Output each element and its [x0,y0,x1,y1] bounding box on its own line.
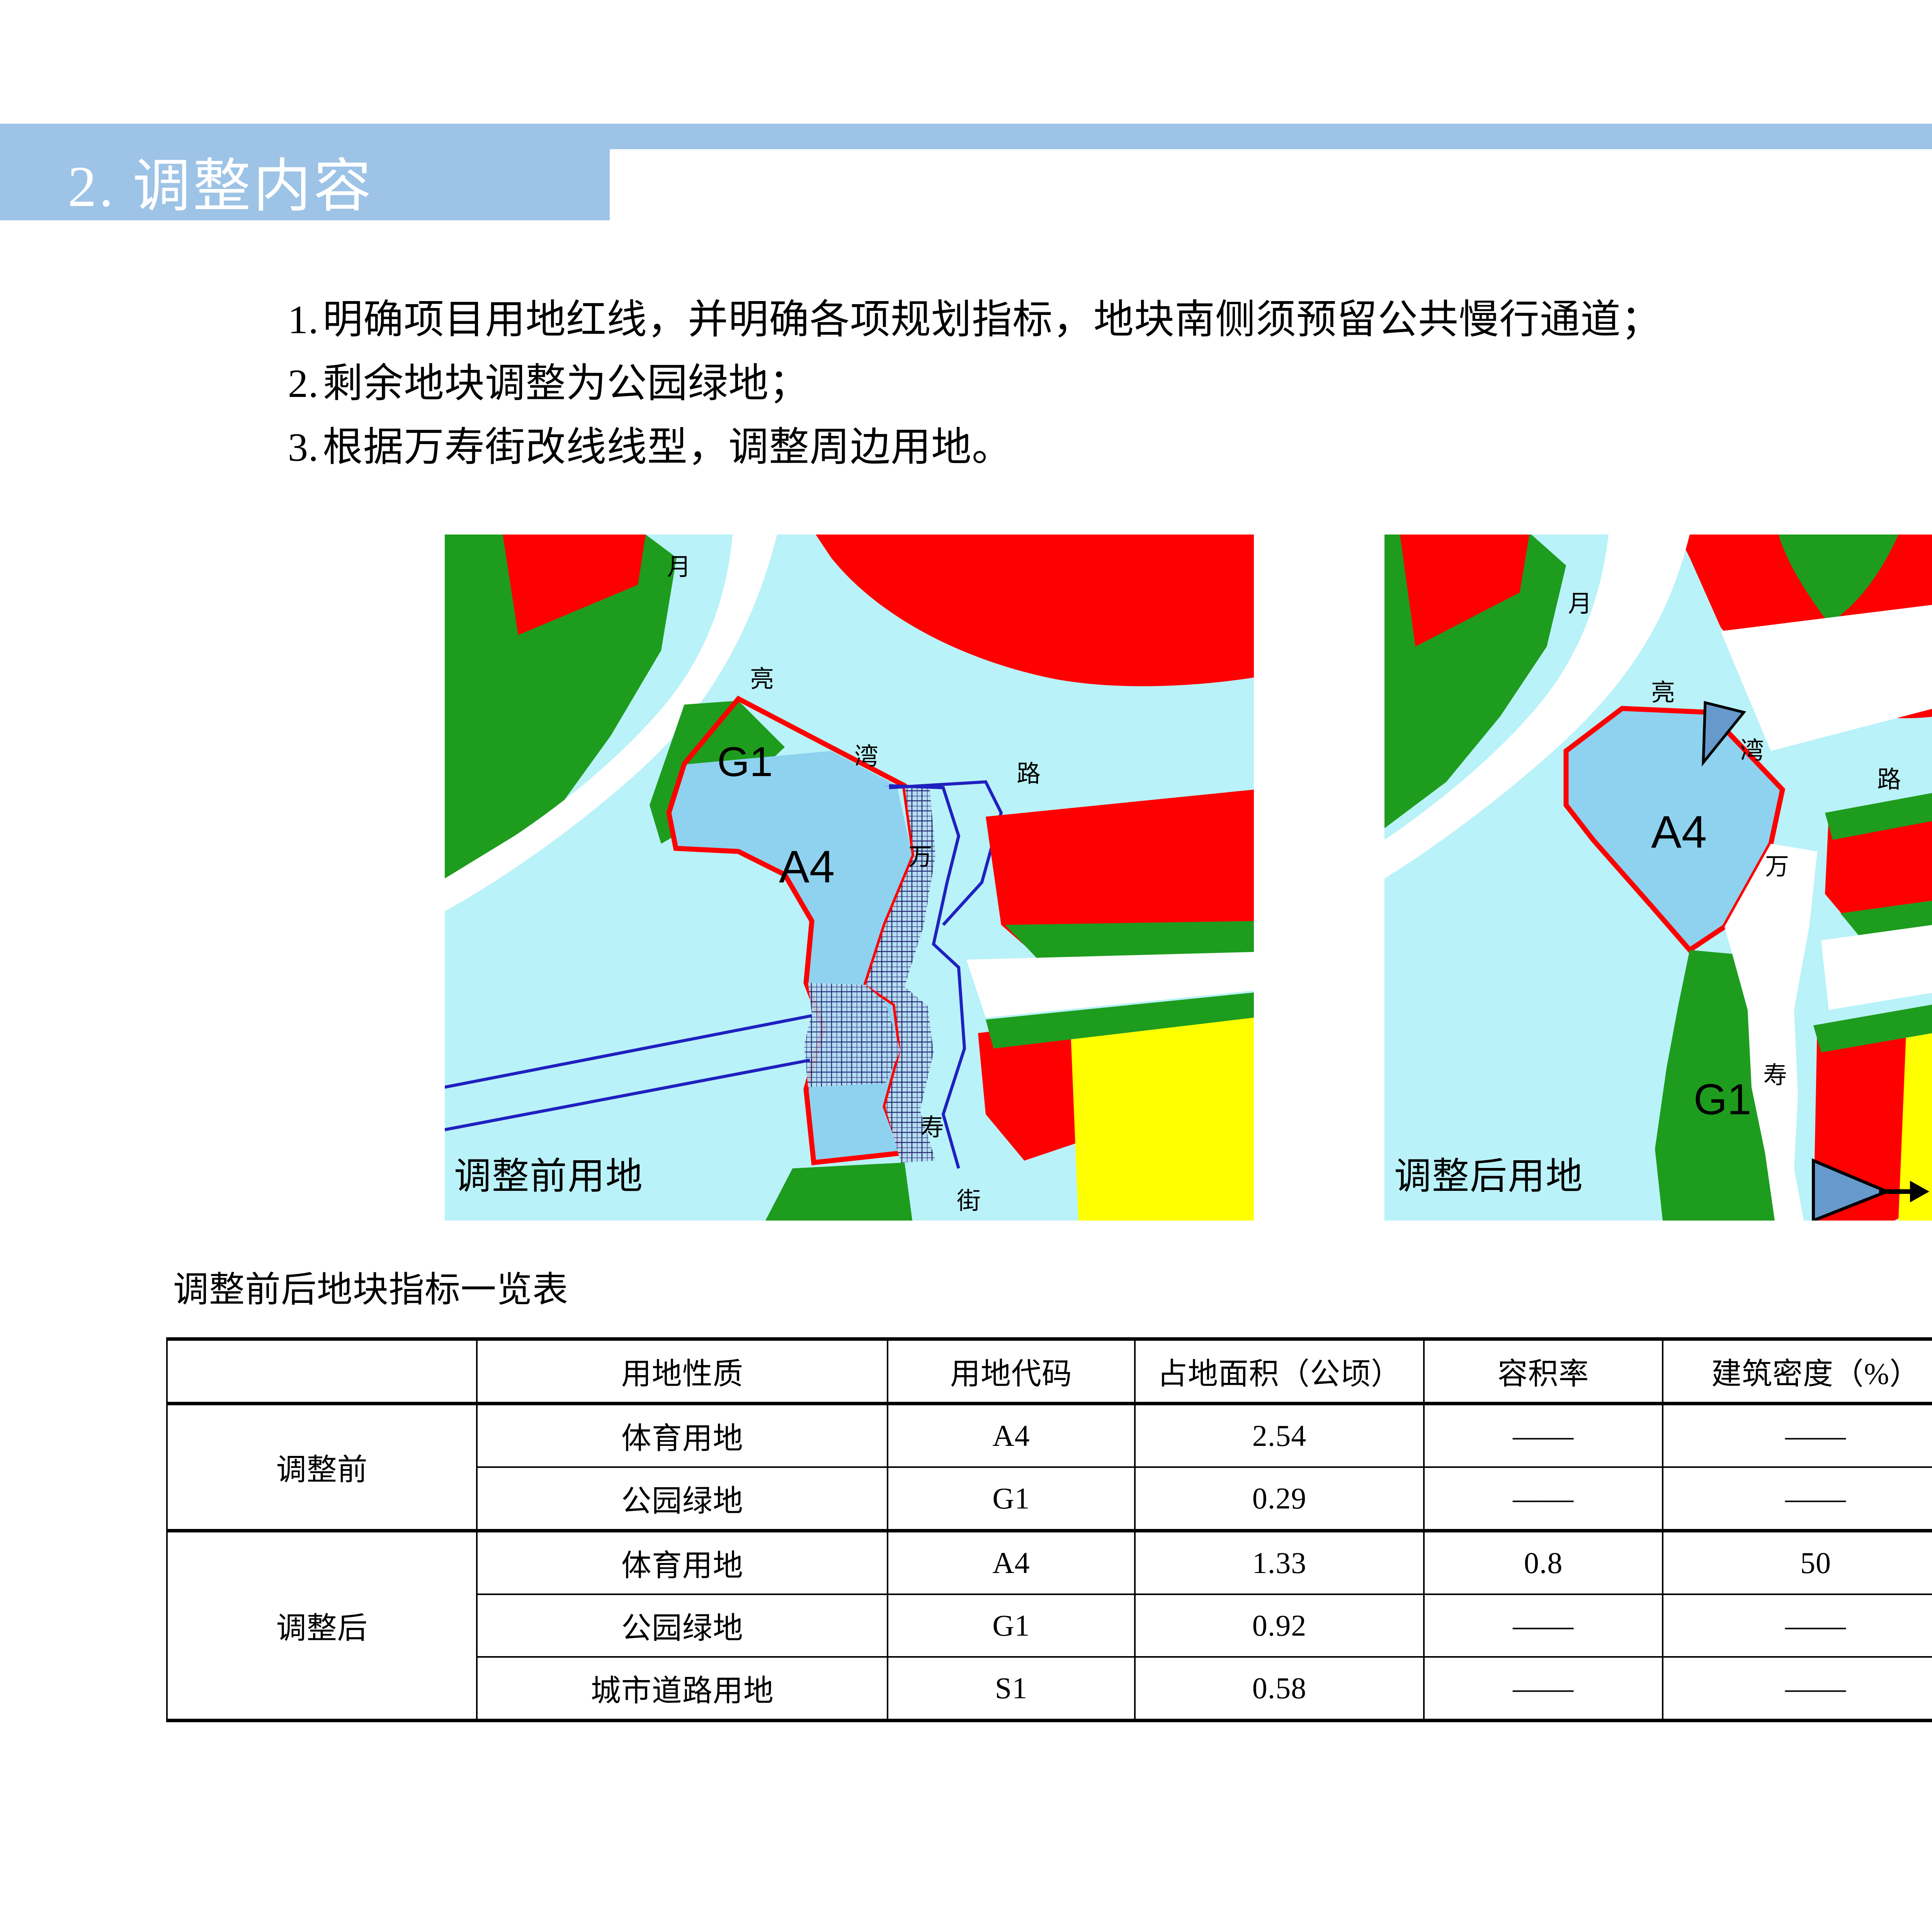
cell-density: —— [1663,1404,1932,1468]
street-char-liang: 亮 [1651,680,1675,706]
cell-density: 50 [1663,1531,1932,1595]
street-char-yue: 月 [667,554,691,581]
table-row: 调整后 体育用地 A4 1.33 0.8 50 16 20 [167,1531,1932,1595]
cell-nature: 公园绿地 [477,1594,888,1657]
street-char-yue: 月 [1568,591,1592,617]
cell-far: —— [1424,1404,1663,1468]
cell-code: A4 [888,1404,1135,1468]
parcel-label-g1: G1 [717,738,773,785]
cell-density: —— [1663,1594,1932,1657]
street-char-wan2: 万 [908,844,932,870]
table-group-label-before: 调整前 [167,1404,477,1531]
table-header-cell-0 [167,1339,477,1404]
cell-nature: 公园绿地 [477,1467,888,1531]
cell-code: G1 [888,1594,1135,1657]
list-item: 2.剩余地块调整为公园绿地； [288,352,1932,415]
table-header-cell-far: 容积率 [1424,1339,1663,1404]
bullet-text: 剩余地块调整为公园绿地； [323,361,810,406]
map-before-adjustment: 月 亮 湾 路 万 寿 街 G1 A4 [445,535,1254,1221]
bullet-number: 1. [288,288,323,352]
table-row: 调整前 体育用地 A4 2.54 —— —— —— —— [167,1404,1932,1468]
table-caption: 调整前后地块指标一览表 [173,1261,568,1312]
table-header-cell-area: 占地面积（公顷） [1135,1339,1424,1404]
parcel-label-a4: A4 [779,841,835,892]
bullet-number: 3. [288,415,323,479]
page-title: 2. 调整内容 [68,139,374,223]
list-item: 1.明确项目用地红线，并明确各项规划指标，地块南侧须预留公共慢行通道； [288,288,1932,352]
bullet-text: 根据万寿街改线线型，调整周边用地。 [323,425,1012,470]
table-header-cell-density: 建筑密度（%） [1663,1339,1932,1404]
cell-code: S1 [888,1657,1135,1721]
table-group-label-after: 调整后 [167,1531,477,1721]
map-after-caption: 调整后用地 [1394,1146,1583,1200]
cell-nature: 城市道路用地 [477,1657,888,1721]
street-char-lu: 路 [1877,767,1901,793]
street-char-shou: 寿 [1763,1062,1787,1089]
street-char-liang: 亮 [750,666,774,693]
cell-far: —— [1424,1594,1663,1657]
map-after-adjustment: 月 亮 湾 路 万 寿 街 A4 G1 [1384,535,1932,1221]
table-header-row: 用地性质 用地代码 占地面积（公顷） 容积率 建筑密度（%） 建筑限高（米） 绿… [167,1339,1932,1404]
table-header-cell-nature: 用地性质 [477,1339,888,1404]
bullet-text: 明确项目用地红线，并明确各项规划指标，地块南侧须预留公共慢行通道； [323,298,1662,342]
street-char-shou: 寿 [920,1115,944,1141]
parcel-label-a4: A4 [1651,807,1707,858]
map-before-caption: 调整前用地 [454,1146,643,1200]
bullet-list: 1.明确项目用地红线，并明确各项规划指标，地块南侧须预留公共慢行通道； 2.剩余… [288,288,1932,479]
cell-area: 1.33 [1135,1531,1424,1595]
street-char-wan: 湾 [1740,738,1764,764]
cell-nature: 体育用地 [477,1404,888,1468]
cell-area: 0.29 [1135,1467,1424,1531]
street-char-wan: 湾 [854,744,878,770]
cell-nature: 体育用地 [477,1531,888,1595]
cell-area: 2.54 [1135,1404,1424,1468]
cell-density: —— [1663,1657,1932,1721]
cell-far: —— [1424,1467,1663,1531]
table-header-cell-code: 用地代码 [888,1339,1135,1404]
cell-far: —— [1424,1657,1663,1721]
parcel-label-g1: G1 [1694,1075,1751,1124]
street-char-wan2: 万 [1765,854,1789,880]
indicator-table: 用地性质 用地代码 占地面积（公顷） 容积率 建筑密度（%） 建筑限高（米） 绿… [166,1337,1932,1722]
cell-area: 0.92 [1135,1594,1424,1657]
cell-density: —— [1663,1467,1932,1531]
street-char-jie: 街 [957,1188,981,1214]
cell-code: G1 [888,1467,1135,1531]
cell-code: A4 [888,1531,1135,1595]
cell-area: 0.58 [1135,1657,1424,1721]
list-item: 3.根据万寿街改线线型，调整周边用地。 [288,415,1932,479]
cell-far: 0.8 [1424,1531,1663,1595]
bullet-number: 2. [288,352,323,415]
street-char-lu: 路 [1017,761,1041,787]
